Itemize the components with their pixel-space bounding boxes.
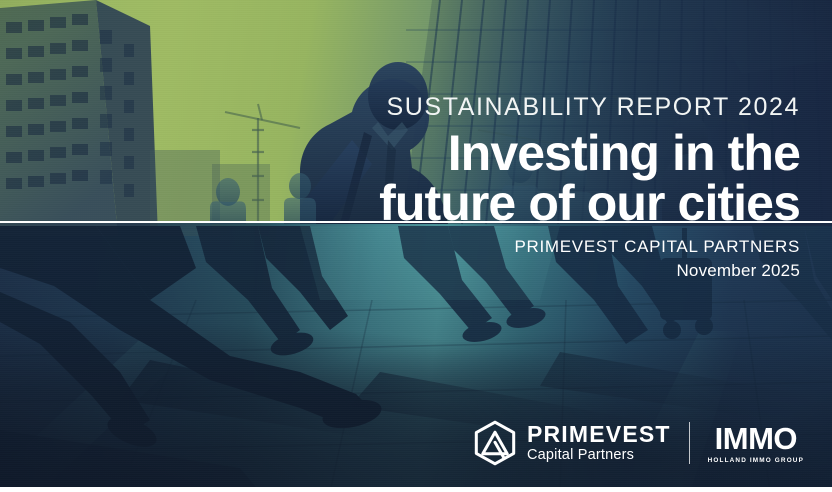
primevest-name: PRIMEVEST — [527, 423, 671, 446]
cover-subtitle-block: PRIMEVEST CAPITAL PARTNERS November 2025 — [160, 236, 800, 282]
publication-date: November 2025 — [160, 260, 800, 282]
page-title: Investing in the future of our cities — [160, 128, 800, 228]
headline-line-2: future of our cities — [160, 178, 800, 228]
immo-logo: IMMO HOLLAND IMMO GROUP — [708, 423, 804, 464]
report-cover: SUSTAINABILITY REPORT 2024 Investing in … — [0, 0, 832, 492]
organisation-name: PRIMEVEST CAPITAL PARTNERS — [160, 236, 800, 258]
immo-name: IMMO — [715, 423, 797, 454]
immo-tagline: HOLLAND IMMO GROUP — [708, 457, 804, 464]
primevest-tagline: Capital Partners — [527, 448, 671, 463]
primevest-logo: PRIMEVEST Capital Partners — [472, 420, 671, 466]
hexagon-triangle-icon — [472, 420, 518, 466]
primevest-wordmark: PRIMEVEST Capital Partners — [527, 423, 671, 463]
headline-line-1: Investing in the — [448, 125, 800, 181]
logo-lockup: PRIMEVEST Capital Partners IMMO HOLLAND … — [472, 420, 804, 466]
report-eyebrow: SUSTAINABILITY REPORT 2024 — [160, 92, 800, 122]
cover-title-block: SUSTAINABILITY REPORT 2024 Investing in … — [160, 92, 800, 228]
logo-separator — [689, 422, 690, 464]
bottom-white-edge — [0, 487, 832, 492]
